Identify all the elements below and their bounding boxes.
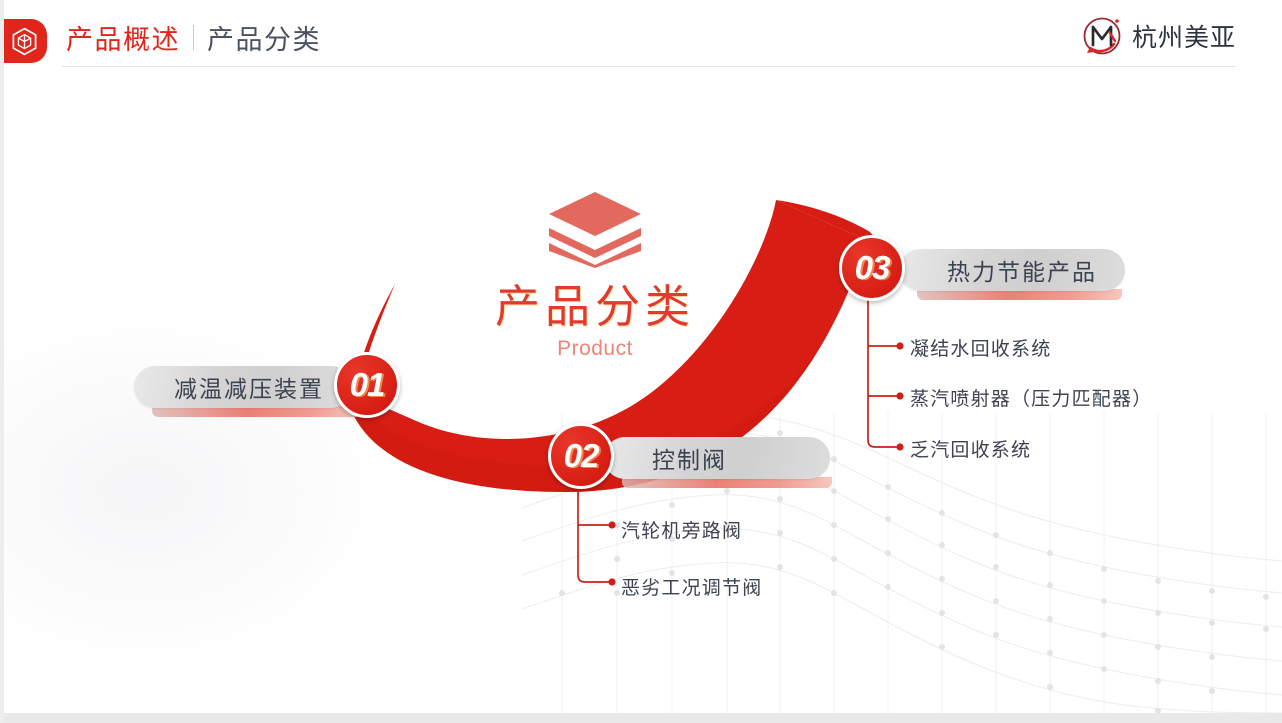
node-01[interactable]: 减温减压装置 01 [134,366,352,408]
bottom-strip [4,713,1282,723]
node-03-badge[interactable]: 03 [839,235,905,301]
page-subtitle: 产品分类 [207,18,321,57]
header-title-group: 产品概述 产品分类 [66,18,321,57]
node-03-child-1[interactable]: 蒸汽喷射器（压力匹配器） [910,384,1152,411]
node-01-badge[interactable]: 01 [334,352,400,418]
node-02-child-0[interactable]: 汽轮机旁路阀 [621,516,742,543]
node-01-label: 减温减压装置 [174,370,324,404]
node-02[interactable]: 控制阀 02 [544,437,830,479]
hexagon-cube-icon [0,19,47,63]
page-title: 产品概述 [66,18,180,57]
title-divider [193,25,194,50]
flow-swoosh-arrow [4,0,1282,723]
node-02-pill[interactable]: 控制阀 [604,437,830,479]
node-03-pill[interactable]: 热力节能产品 [899,249,1125,291]
node-02-label: 控制阀 [652,441,727,475]
node-01-number: 01 [350,366,385,404]
node-03-child-2[interactable]: 乏汽回收系统 [910,435,1031,462]
background-soft-glow [0,300,404,680]
slide-header: 产品概述 产品分类 杭州美亚 [4,0,1282,72]
node-02-child-1[interactable]: 恶劣工况调节阀 [621,573,762,600]
node-03-label: 热力节能产品 [947,253,1097,287]
slide-canvas: 产品概述 产品分类 杭州美亚 [0,0,1282,723]
node-03-number: 03 [855,249,890,287]
node-02-badge[interactable]: 02 [548,423,614,489]
node-03-child-0[interactable]: 凝结水回收系统 [910,334,1051,361]
brand-name: 杭州美亚 [1132,18,1236,54]
node-01-pill[interactable]: 减温减压装置 [134,366,352,408]
brand-lockup: 杭州美亚 [1081,15,1236,57]
node-03[interactable]: 热力节能产品 03 [839,249,1125,291]
brand-mark-icon [1081,15,1125,57]
node-02-number: 02 [564,437,599,475]
layers-stack-icon [547,190,643,273]
header-underline [62,66,1236,67]
